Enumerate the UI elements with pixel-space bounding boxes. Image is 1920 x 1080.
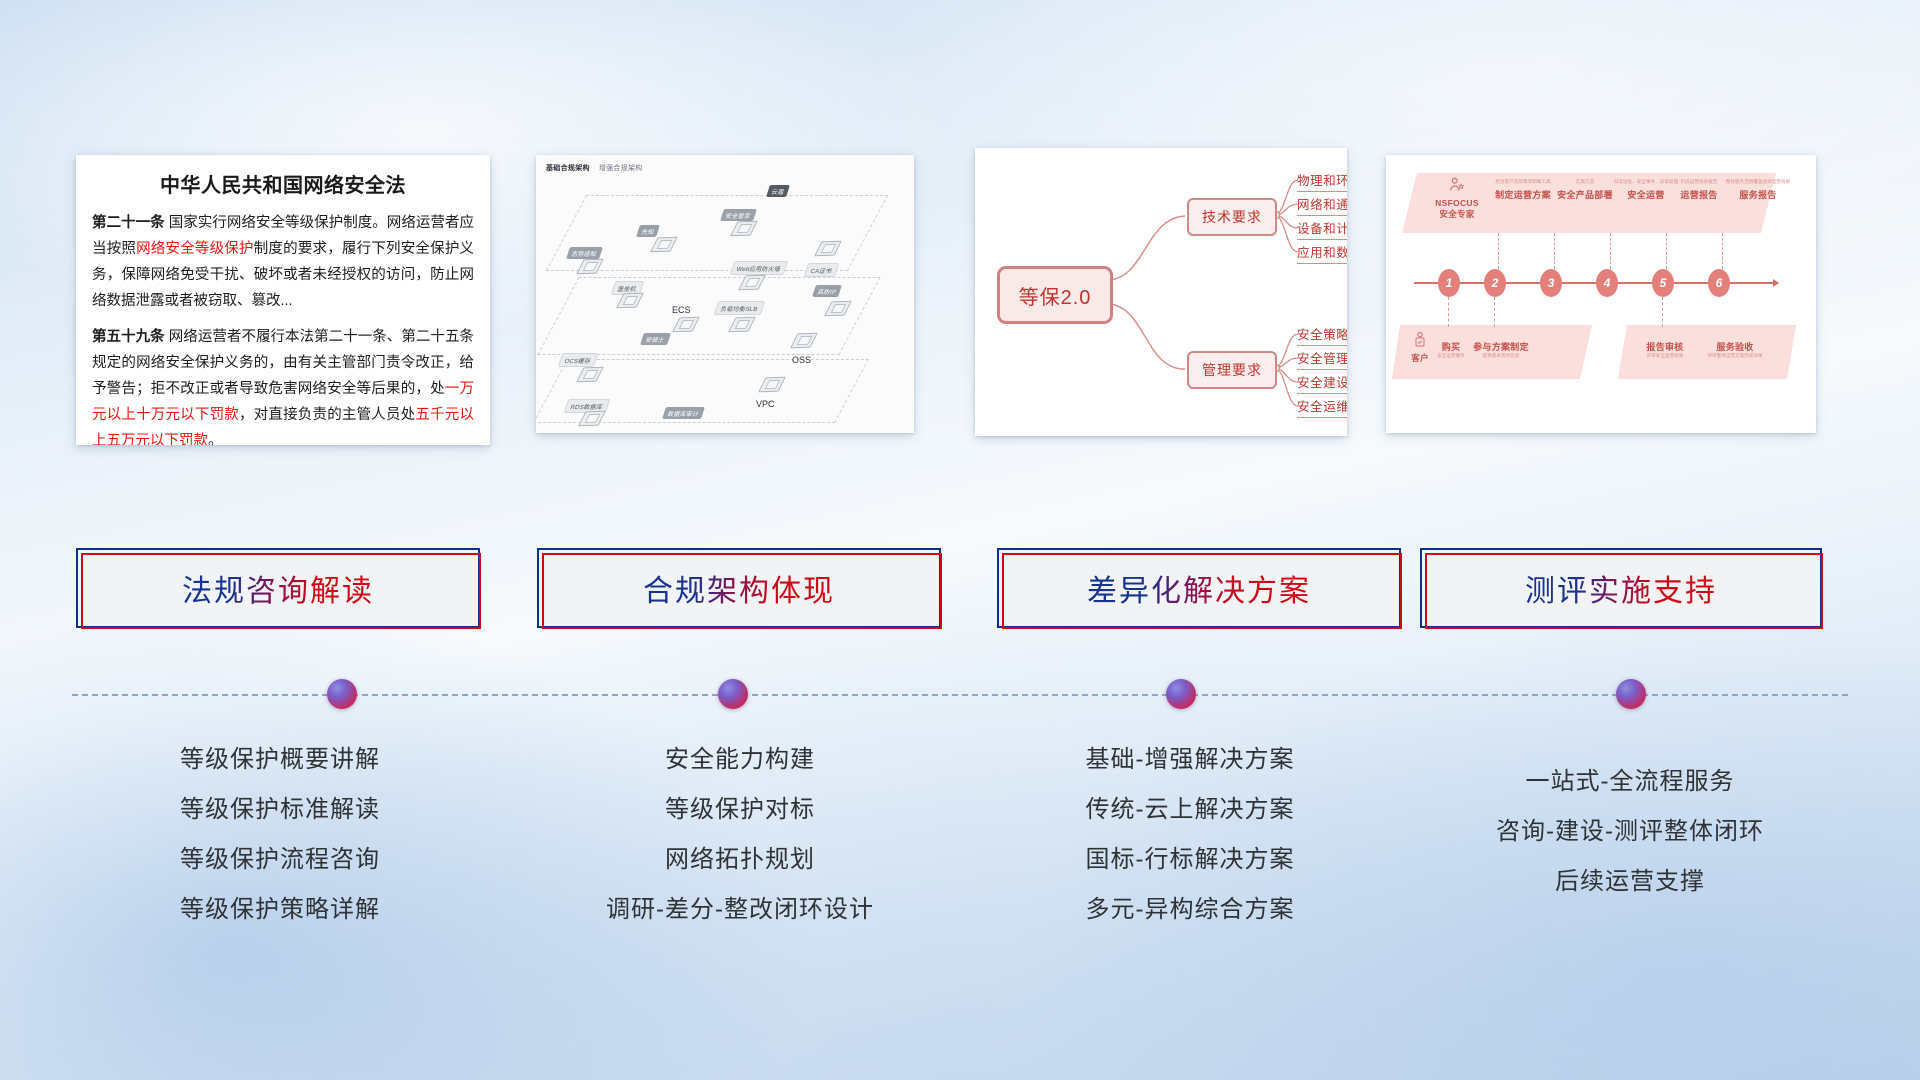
mindmap-leaf[interactable]: 安全运维管理 (1297, 396, 1347, 418)
timeline-dot[interactable] (718, 679, 748, 709)
arch-node-icon (742, 275, 764, 293)
detail-list-evaluation-support: 一站式-全流程服务 咨询-建设-测评整体闭环 后续运营支撑 (1420, 757, 1840, 907)
person-check-icon (1412, 331, 1428, 349)
arch-tag-taishiganzhi: 态势感知 (566, 247, 603, 259)
timeline-dot[interactable] (1616, 679, 1646, 709)
headline-button-regulation-consulting[interactable]: 法规咨询解读 (76, 548, 480, 628)
list-item: 等级保护流程咨询 (80, 835, 480, 885)
flow-node-number[interactable]: 4 (1596, 269, 1618, 297)
flow-bottom-step: 购买 安全运营服务 (1430, 337, 1472, 359)
flow-top-step: 整体服务范围覆盖总体运营效果 服务报告 (1720, 179, 1796, 201)
flow-node-number[interactable]: 6 (1708, 269, 1730, 297)
list-item: 等级保护对标 (530, 785, 950, 835)
mindmap: 等保2.0 技术要求 物理和环境安全 网络和通信安全 设备和计算安全 应用和数据… (975, 148, 1347, 436)
list-item: 调研-差分-整改闭环设计 (530, 885, 950, 935)
flow-connector (1610, 233, 1611, 269)
flow-node-number[interactable]: 2 (1484, 269, 1506, 297)
list-item: 国标-行标解决方案 (980, 835, 1400, 885)
arch-label-vpc: VPC (756, 399, 775, 409)
detail-list-differentiated-solution: 基础-增强解决方案 传统-云上解决方案 国标-行标解决方案 多元-异构综合方案 (980, 735, 1400, 935)
flow-node-number[interactable]: 5 (1652, 269, 1674, 297)
reference-cards-row: 中华人民共和国网络安全法 第二十一条 国家实行网络安全等级保护制度。网络运营者应… (0, 0, 1920, 460)
list-item: 等级保护标准解读 (80, 785, 480, 835)
flow-step-main: 报告审核 (1634, 340, 1696, 353)
card-cybersecurity-law: 中华人民共和国网络安全法 第二十一条 国家实行网络安全等级保护制度。网络运营者应… (76, 155, 490, 445)
arch-node-icon (762, 377, 784, 395)
flow-step-sub: 提供基本现状信息 (1470, 353, 1532, 359)
flow-node-number[interactable]: 1 (1438, 269, 1460, 297)
timeline (72, 693, 1848, 697)
flow-node-number[interactable]: 3 (1540, 269, 1562, 297)
mindmap-leaf[interactable]: 安全策略和管理制度 (1297, 324, 1347, 346)
flow-brand: NSFOCUS 安全专家 (1428, 177, 1486, 220)
detail-list-regulation-consulting: 等级保护概要讲解 等级保护标准解读 等级保护流程咨询 等级保护策略详解 (80, 735, 480, 935)
arch-node-icon (654, 237, 676, 255)
flow-step-sub: 评审安全运营效果 (1634, 353, 1696, 359)
law-text: 。 (208, 433, 223, 445)
flow-connector (1494, 297, 1495, 327)
flow-connector (1666, 233, 1667, 269)
flow-connector (1498, 233, 1499, 269)
law-paragraph: 第五十九条 网络运营者不履行本法第二十一条、第二十五条规定的网络安全保护义务的，… (92, 324, 474, 445)
arch-tag-anqishi: 安骑士 (640, 333, 671, 345)
card-compliance-architecture: 基础合规架构增强合规架构 云盾 安全管家 先知 态势感知 堡垒机 安骑士 OCS… (536, 155, 914, 433)
arch-node-icon (734, 221, 756, 239)
timeline-dot[interactable] (327, 679, 357, 709)
arch-node-icon (580, 259, 602, 277)
flow-step-sub: 安全运营服务 (1430, 353, 1472, 359)
arch-tag-ocs: OCS缓存 (558, 353, 599, 367)
headline-button-differentiated-solution[interactable]: 差异化解决方案 (997, 548, 1401, 628)
architecture-diagram: 基础合规架构增强合规架构 云盾 安全管家 先知 态势感知 堡垒机 安骑士 OCS… (536, 155, 914, 433)
detail-lists-row: 等级保护概要讲解 等级保护标准解读 等级保护流程咨询 等级保护策略详解 安全能力… (0, 735, 1920, 1005)
flow-brand-sub: 安全专家 (1428, 208, 1486, 220)
list-item: 后续运营支撑 (1420, 857, 1840, 907)
mindmap-leaf[interactable]: 安全建设管理 (1297, 372, 1347, 394)
flow-step-main: 参与方案制定 (1470, 340, 1532, 353)
arch-node-icon (732, 317, 754, 335)
arch-node-icon (580, 367, 602, 385)
list-item: 传统-云上解决方案 (980, 785, 1400, 835)
list-item: 一站式-全流程服务 (1420, 757, 1840, 807)
flow-step-sub: 评审整体运营方案完成效果 (1698, 353, 1772, 359)
list-item: 基础-增强解决方案 (980, 735, 1400, 785)
mindmap-leaf[interactable]: 网络和通信安全 (1297, 194, 1347, 216)
flow-diagram: NSFOCUS 安全专家 结合客户实际需求明确工具 制定运营方案 实施方案 安全… (1386, 155, 1816, 433)
detail-list-compliance-architecture: 安全能力构建 等级保护对标 网络拓扑规划 调研-差分-整改闭环设计 (530, 735, 950, 935)
headline-label: 差异化解决方案 (1087, 566, 1311, 610)
headline-label: 测评实施支持 (1525, 566, 1717, 610)
law-body: 第二十一条 国家实行网络安全等级保护制度。网络运营者应当按照网络安全等级保护制度… (76, 210, 490, 445)
card-mindmap-dengbao: 等保2.0 技术要求 物理和环境安全 网络和通信安全 设备和计算安全 应用和数据… (975, 148, 1347, 436)
law-article-label: 第五十九条 (92, 329, 165, 345)
law-text-highlight: 网络安全等级保护 (136, 241, 254, 257)
person-star-icon (1448, 177, 1466, 195)
mindmap-leaf[interactable]: 应用和数据安全 (1297, 242, 1347, 264)
headline-label: 法规咨询解读 (182, 566, 374, 610)
timeline-dot[interactable] (1166, 679, 1196, 709)
law-title: 中华人民共和国网络安全法 (76, 169, 490, 198)
arch-tag-gaofangip: 高防IP (812, 285, 842, 297)
architecture-tabs: 基础合规架构增强合规架构 (546, 163, 652, 173)
arch-node-icon (582, 411, 604, 429)
headline-label: 合规架构体现 (643, 566, 835, 610)
flow-bottom-step: 服务验收 评审整体运营方案完成效果 (1698, 337, 1772, 359)
mindmap-root-node[interactable]: 等保2.0 (997, 266, 1113, 324)
list-item: 安全能力构建 (530, 735, 950, 785)
mindmap-branch-management[interactable]: 管理要求 (1187, 351, 1277, 389)
list-item: 等级保护概要讲解 (80, 735, 480, 785)
arch-tag-waf: Web应用防火墙 (730, 261, 788, 275)
flow-step-main: 服务验收 (1698, 340, 1772, 353)
flow-bottom-step: 报告审核 评审安全运营效果 (1634, 337, 1696, 359)
law-paragraph: 第二十一条 国家实行网络安全等级保护制度。网络运营者应当按照网络安全等级保护制度… (92, 210, 474, 314)
flow-step-sub: 整体服务范围覆盖总体运营效果 (1720, 179, 1796, 185)
flow-step-main: 服务报告 (1720, 188, 1796, 201)
list-item: 咨询-建设-测评整体闭环 (1420, 807, 1840, 857)
flow-connector (1722, 233, 1723, 269)
law-text: ，对直接负责的主管人员处 (239, 407, 415, 423)
flow-step-main: 购买 (1430, 340, 1472, 353)
list-item: 等级保护策略详解 (80, 885, 480, 935)
list-item: 网络拓扑规划 (530, 835, 950, 885)
mindmap-branch-technical[interactable]: 技术要求 (1187, 198, 1277, 236)
flow-connector (1662, 297, 1663, 327)
flow-brand-name: NSFOCUS (1428, 198, 1486, 208)
mindmap-leaf[interactable]: 物理和环境安全 (1297, 170, 1347, 192)
list-item: 多元-异构综合方案 (980, 885, 1400, 935)
arch-tag-slb: 负载均衡SLB (714, 301, 765, 315)
card-service-flow: NSFOCUS 安全专家 结合客户实际需求明确工具 制定运营方案 实施方案 安全… (1386, 155, 1816, 433)
arch-node-icon (818, 241, 840, 259)
arch-label-oss: OSS (792, 355, 811, 365)
arch-node-icon (620, 293, 642, 311)
arch-tag-anquanguanjia: 安全管家 (720, 209, 757, 221)
arch-node-icon (676, 317, 698, 335)
arch-node-icon (828, 301, 850, 319)
mindmap-leaf[interactable]: 安全管理机构和人员 (1297, 348, 1347, 370)
headline-button-evaluation-support[interactable]: 测评实施支持 (1420, 548, 1822, 628)
flow-connector (1448, 297, 1449, 327)
flow-bottom-step: 参与方案制定 提供基本现状信息 (1470, 337, 1532, 359)
headline-button-compliance-architecture[interactable]: 合规架构体现 (537, 548, 941, 628)
arch-node-icon (794, 333, 816, 351)
arch-tag-ca: CA证书 (804, 263, 840, 277)
arch-label-ecs: ECS (672, 305, 691, 315)
mindmap-leaf[interactable]: 设备和计算安全 (1297, 218, 1347, 240)
law-article-label: 第二十一条 (92, 215, 165, 231)
arch-tab-basic[interactable]: 基础合规架构 (546, 165, 590, 172)
flow-connector (1554, 233, 1555, 269)
arch-tag-dbaudit: 数据库审计 (662, 407, 705, 419)
arch-tab-enhanced[interactable]: 增强合规架构 (599, 165, 643, 172)
